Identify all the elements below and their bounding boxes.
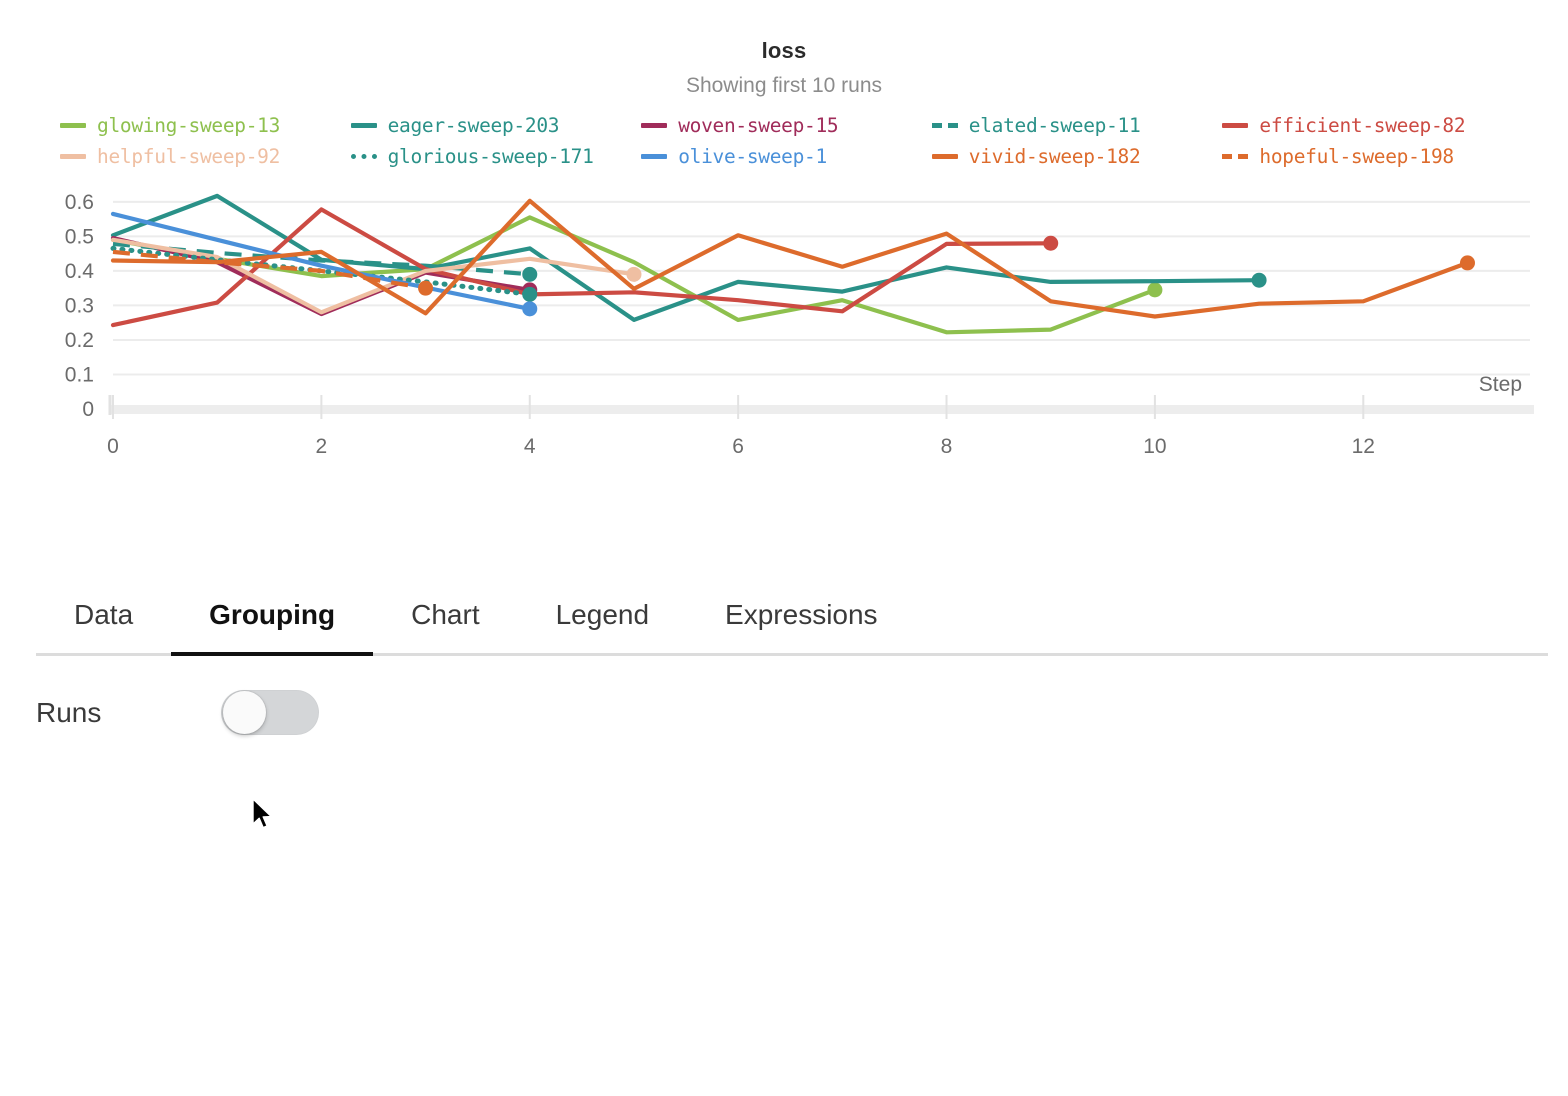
legend-item-eager-sweep-203[interactable]: eager-sweep-203 (351, 114, 642, 137)
x-tick-label: 4 (524, 435, 536, 458)
tab-grouping[interactable]: Grouping (171, 599, 373, 653)
legend-item-woven-sweep-15[interactable]: woven-sweep-15 (641, 114, 932, 137)
legend-swatch-icon (60, 123, 86, 128)
tab-label: Chart (373, 599, 517, 631)
chart-subtitle: Showing first 10 runs (0, 74, 1568, 98)
legend-item-efficient-sweep-82[interactable]: efficient-sweep-82 (1222, 114, 1513, 137)
plot-area: 00.10.20.30.40.50.6024681012Step (0, 178, 1568, 468)
legend-item-label: glowing-sweep-13 (97, 114, 280, 137)
legend-item-label: woven-sweep-15 (678, 114, 838, 137)
legend-item-glorious-sweep-171[interactable]: glorious-sweep-171 (351, 145, 642, 168)
legend-item-label: eager-sweep-203 (388, 114, 560, 137)
y-tick-label: 0.1 (65, 363, 94, 386)
series-endpoint-vivid-sweep-182[interactable] (1460, 255, 1475, 270)
chart-config-page: loss Showing first 10 runs glowing-sweep… (0, 0, 1568, 1096)
legend-item-elated-sweep-11[interactable]: elated-sweep-11 (932, 114, 1223, 137)
config-tabs: DataGroupingChartLegendExpressions (36, 560, 1548, 656)
toggle-knob (223, 691, 266, 734)
series-endpoint-helpful-sweep-92[interactable] (626, 267, 641, 282)
y-tick-label: 0.3 (65, 294, 94, 317)
legend-swatch-icon (641, 123, 667, 128)
legend-swatch-icon (932, 154, 958, 159)
series-endpoint-olive-sweep-1[interactable] (522, 301, 537, 316)
x-axis-title: Step (1479, 373, 1522, 396)
series-endpoint-eager-sweep-203[interactable] (1252, 273, 1267, 288)
x-tick-label: 0 (107, 435, 119, 458)
series-endpoint-hopeful-sweep-198[interactable] (418, 281, 433, 296)
legend-item-hopeful-sweep-198[interactable]: hopeful-sweep-198 (1222, 145, 1513, 168)
legend-item-label: hopeful-sweep-198 (1259, 145, 1453, 168)
legend-item-vivid-sweep-182[interactable]: vivid-sweep-182 (932, 145, 1223, 168)
x-tick-label: 10 (1143, 435, 1166, 458)
series-endpoint-elated-sweep-11[interactable] (522, 267, 537, 282)
series-endpoint-efficient-sweep-82[interactable] (1043, 236, 1058, 251)
legend-swatch-icon (351, 123, 377, 128)
chart-legend: glowing-sweep-13eager-sweep-203woven-swe… (0, 110, 1568, 172)
legend-item-label: olive-sweep-1 (678, 145, 827, 168)
legend-item-olive-sweep-1[interactable]: olive-sweep-1 (641, 145, 932, 168)
grouping-panel: Runs (36, 690, 1036, 735)
x-tick-label: 8 (941, 435, 953, 458)
tab-label: Expressions (687, 599, 916, 631)
legend-item-label: efficient-sweep-82 (1259, 114, 1465, 137)
tab-data[interactable]: Data (36, 599, 171, 653)
x-tick-label: 12 (1352, 435, 1375, 458)
mouse-cursor (252, 798, 274, 832)
legend-swatch-icon (932, 123, 958, 128)
tab-label: Legend (518, 599, 687, 631)
y-tick-label: 0 (82, 398, 94, 421)
runs-group-toggle[interactable] (221, 690, 319, 735)
tab-chart[interactable]: Chart (373, 599, 517, 653)
legend-swatch-icon (641, 154, 667, 159)
legend-swatch-icon (60, 154, 86, 159)
tab-legend[interactable]: Legend (518, 599, 687, 653)
y-tick-label: 0.5 (65, 225, 94, 248)
legend-item-label: glorious-sweep-171 (388, 145, 594, 168)
legend-item-glowing-sweep-13[interactable]: glowing-sweep-13 (60, 114, 351, 137)
legend-item-label: elated-sweep-11 (969, 114, 1141, 137)
legend-item-label: helpful-sweep-92 (97, 145, 280, 168)
legend-item-helpful-sweep-92[interactable]: helpful-sweep-92 (60, 145, 351, 168)
legend-swatch-icon (1222, 123, 1248, 128)
series-endpoint-glorious-sweep-171[interactable] (522, 287, 537, 302)
chart-title: loss (0, 38, 1568, 64)
series-endpoint-glowing-sweep-13[interactable] (1147, 282, 1162, 297)
legend-swatch-icon (351, 154, 377, 159)
y-tick-label: 0.4 (65, 260, 95, 283)
legend-swatch-icon (1222, 154, 1248, 159)
line-chart-svg: 00.10.20.30.40.50.6024681012Step (0, 178, 1568, 468)
runs-label: Runs (36, 697, 221, 729)
y-tick-label: 0.2 (65, 329, 94, 352)
x-tick-label: 6 (732, 435, 744, 458)
legend-item-label: vivid-sweep-182 (969, 145, 1141, 168)
x-axis-baseline (109, 405, 1534, 414)
tab-label: Data (36, 599, 171, 631)
tab-label: Grouping (171, 599, 373, 631)
x-tick-label: 2 (316, 435, 328, 458)
tab-expressions[interactable]: Expressions (687, 599, 916, 653)
chart-panel: loss Showing first 10 runs glowing-sweep… (0, 0, 1568, 500)
y-tick-label: 0.6 (65, 191, 94, 214)
